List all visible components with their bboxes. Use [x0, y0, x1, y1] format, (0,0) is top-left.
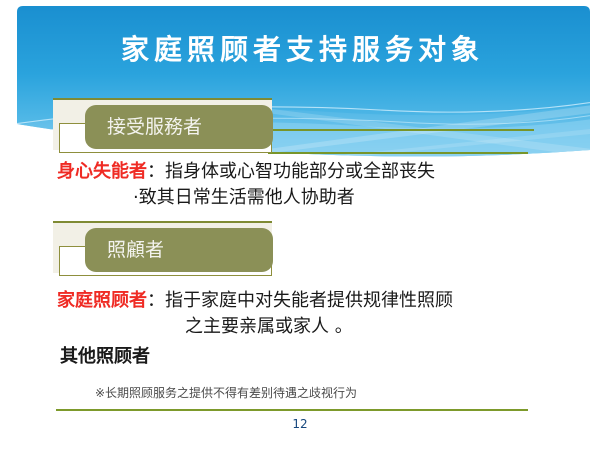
label-group-service-recipient: 接受服務者	[0, 98, 600, 154]
definition-text-2-line1: 指于家庭中对失能者提供规律性照顾	[165, 290, 453, 311]
definition-text-2-line2: 之主要亲属或家人 。	[57, 314, 453, 340]
definition-text-1-line2: ·致其日常生活需他人协助者	[57, 185, 435, 211]
definition-block-family-caregiver: 家庭照顾者：指于家庭中对失能者提供规律性照顾 之主要亲属或家人 。	[57, 288, 453, 340]
definition-text-1-line1: 指身体或心智功能部分或全部丧失	[165, 161, 435, 182]
green-pill-service-recipient[interactable]: 接受服務者	[85, 105, 273, 149]
green-pill-caregiver[interactable]: 照顧者	[85, 228, 273, 272]
definition-term-2: 家庭照顾者	[57, 290, 147, 311]
green-pill-label-1: 接受服務者	[107, 114, 202, 140]
definition-block-disabled-person: 身心失能者：指身体或心智功能部分或全部丧失 ·致其日常生活需他人协助者	[57, 159, 435, 211]
page-number: 12	[0, 417, 600, 431]
definition-separator-2: ：	[147, 290, 165, 311]
page-title: 家庭照顾者支持服务对象	[0, 33, 600, 67]
other-caregivers-heading: 其他照顾者	[60, 345, 150, 369]
footnote-text: ※长期照顾服务之提供不得有差别待遇之歧视行为	[95, 385, 357, 401]
label-group-caregiver: 照顧者	[0, 221, 600, 277]
footer-divider	[56, 409, 528, 411]
green-pill-label-2: 照顧者	[107, 237, 164, 263]
definition-term-1: 身心失能者	[57, 161, 147, 182]
slide-canvas: 家庭照顾者支持服务对象 接受服務者 身心失能者：指身体或心智功能部分或全部丧失 …	[0, 0, 600, 450]
definition-separator-1: ：	[147, 161, 165, 182]
